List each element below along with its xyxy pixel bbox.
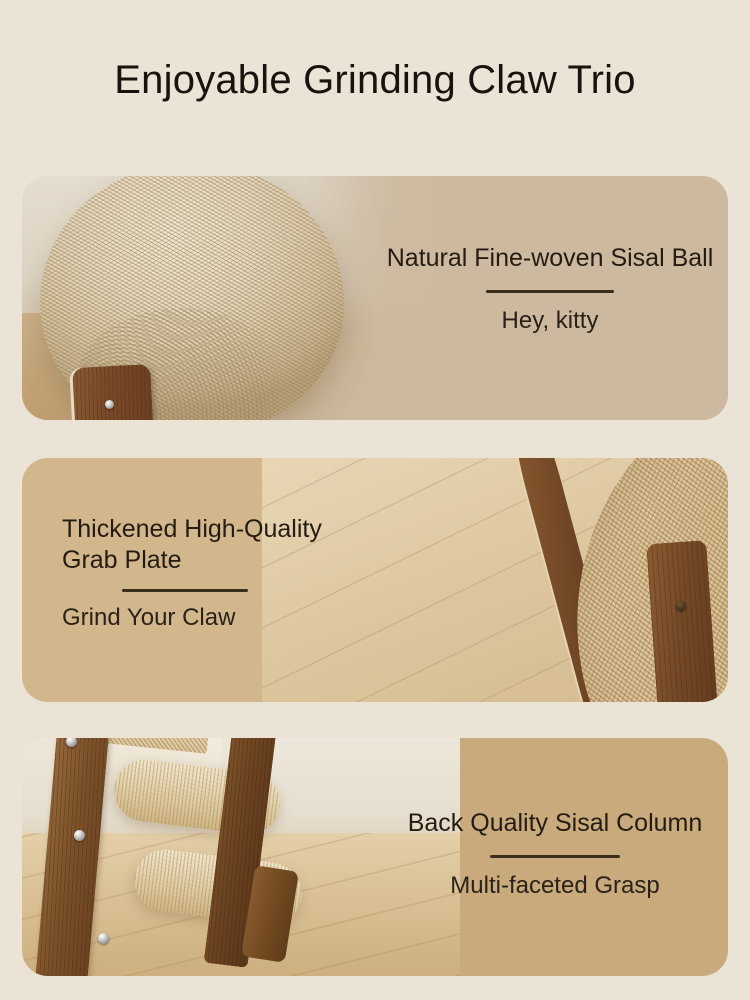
screw-icon <box>74 830 85 841</box>
panel-1-photo <box>22 176 431 420</box>
panel-2-subline: Grind Your Claw <box>62 604 392 632</box>
panel-2-headline: Thickened High-Quality Grab Plate <box>62 514 392 575</box>
panel-1-subline: Hey, kitty <box>372 307 728 335</box>
walnut-bracket <box>72 364 154 420</box>
panel-3-divider <box>490 855 620 858</box>
panel-2-divider <box>122 589 248 592</box>
screw-icon <box>676 601 686 611</box>
panel-1-divider <box>486 290 614 293</box>
screw-icon <box>98 933 109 944</box>
page-title: Enjoyable Grinding Claw Trio <box>0 58 750 103</box>
panel-2-caption: Thickened High-Quality Grab Plate Grind … <box>62 514 392 632</box>
infographic-page: Enjoyable Grinding Claw Trio Natural Fin… <box>0 0 750 1000</box>
panel-3-headline: Back Quality Sisal Column <box>382 808 728 839</box>
panel-3-subline: Multi-faceted Grasp <box>382 872 728 900</box>
panel-1-headline: Natural Fine-woven Sisal Ball <box>372 243 728 274</box>
screw-icon <box>105 400 114 409</box>
panel-1-caption: Natural Fine-woven Sisal Ball Hey, kitty <box>372 243 728 335</box>
wood-post <box>646 540 718 702</box>
panel-3-caption: Back Quality Sisal Column Multi-faceted … <box>382 808 728 900</box>
